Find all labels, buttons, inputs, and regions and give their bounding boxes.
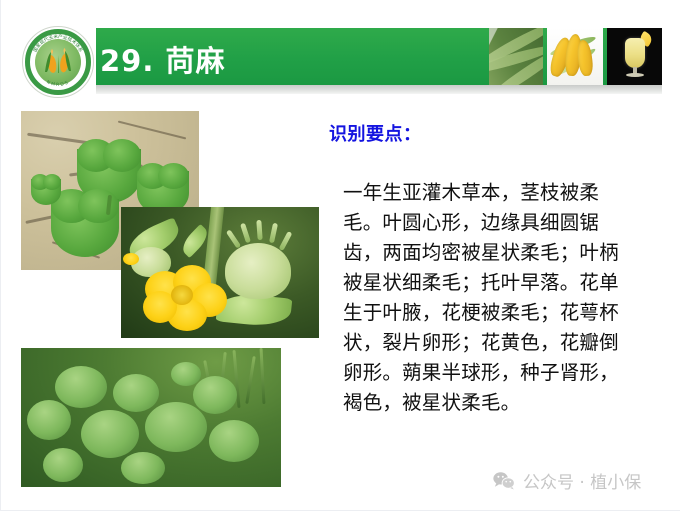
- corn-leaves-photo: [489, 28, 543, 85]
- watermark-text: 公众号 · 植小保: [523, 468, 641, 493]
- page-title: 29. 苘麻: [100, 38, 225, 80]
- photo-flower: [121, 207, 319, 338]
- identification-body-text: 一年生亚灌木草本，茎枝被柔毛。叶圆心形，边缘具细圆锯齿，两面均密被星状柔毛；叶柄…: [343, 178, 631, 418]
- corn-drink-photo: [607, 28, 662, 85]
- header-photo-strip: [489, 28, 662, 85]
- photo-field: [21, 348, 281, 487]
- organization-logo-icon: 国家现代玉米产业技术体系 NMRDS: [22, 26, 94, 98]
- svg-text:NMRDS: NMRDS: [46, 79, 71, 88]
- svg-text:国家现代玉米产业技术体系: 国家现代玉米产业技术体系: [32, 33, 84, 54]
- wechat-icon: [493, 471, 515, 490]
- slide-canvas: 29. 苘麻: [0, 0, 680, 511]
- watermark: 公众号 · 植小保: [493, 468, 641, 493]
- header-band-shadow: [96, 85, 662, 94]
- corn-cobs-photo: [547, 28, 603, 85]
- section-heading: 识别要点：: [329, 120, 422, 146]
